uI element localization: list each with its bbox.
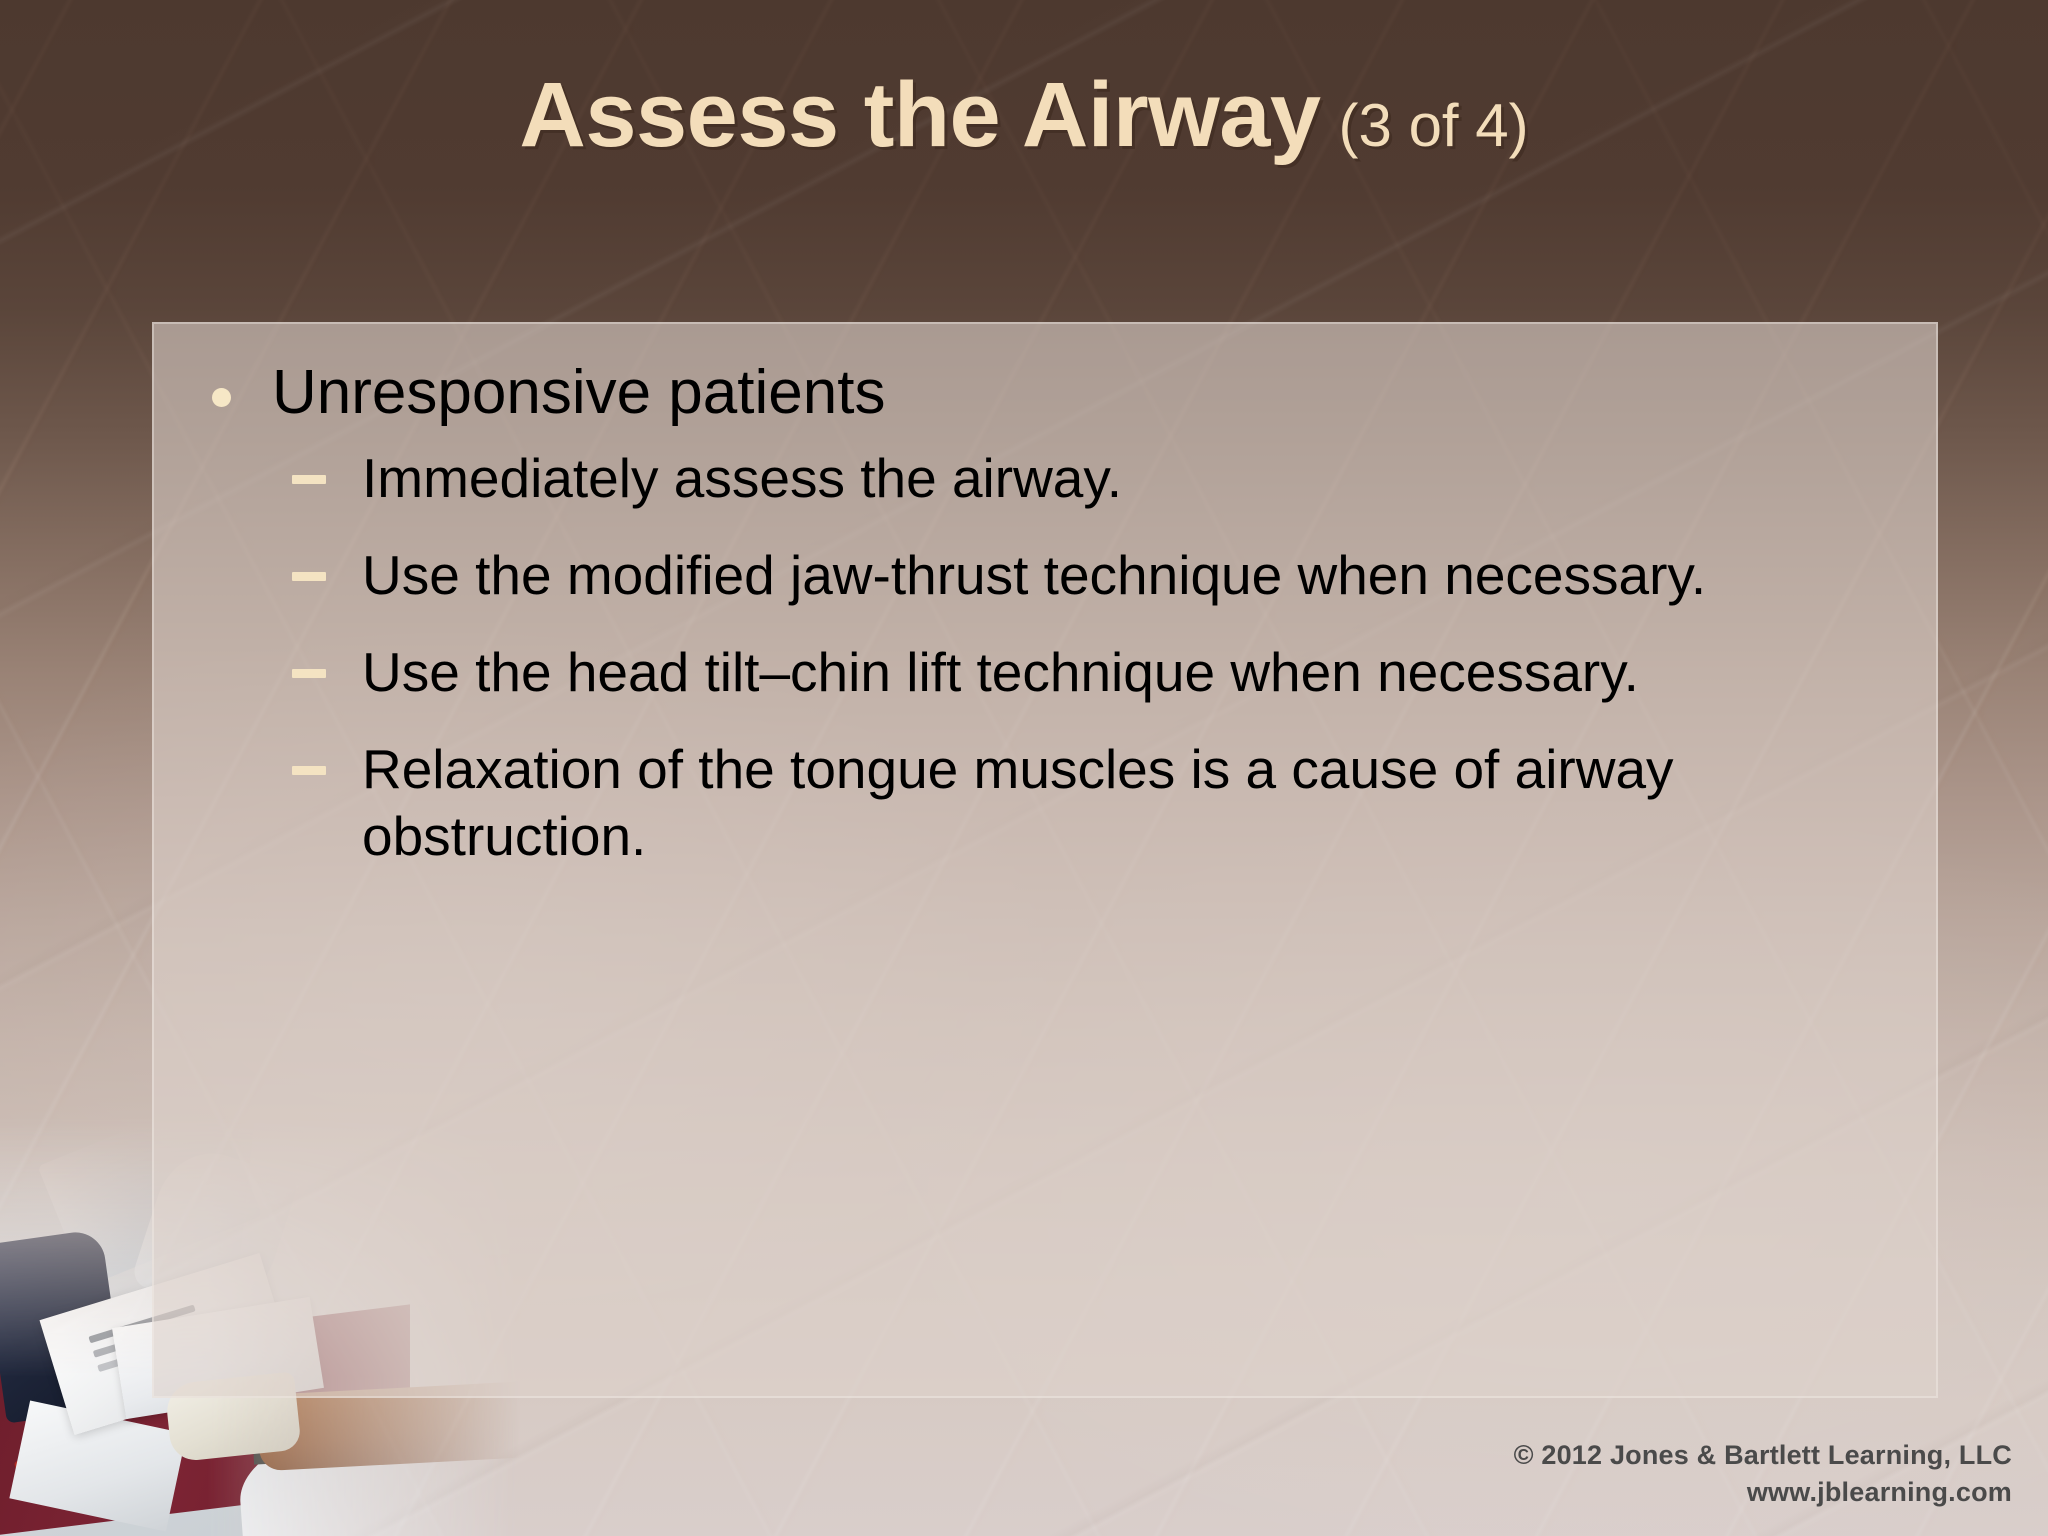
- copyright-footer: © 2012 Jones & Bartlett Learning, LLC ww…: [1514, 1437, 2012, 1510]
- copyright-line: © 2012 Jones & Bartlett Learning, LLC: [1514, 1437, 2012, 1473]
- bullet-level1-label: Unresponsive patients: [272, 358, 885, 427]
- title-sequence-label: (3 of 4): [1339, 92, 1529, 159]
- bullet-level2-label: Relaxation of the tongue muscles is a ca…: [362, 738, 1674, 867]
- bullet-level2-label: Immediately assess the airway.: [362, 447, 1122, 509]
- bullet-dash-icon: [292, 572, 326, 581]
- list-item: Use the modified jaw-thrust technique wh…: [272, 542, 1762, 609]
- title-main-text: Assess the Airway: [519, 64, 1320, 166]
- bullet-dash-icon: [292, 766, 326, 775]
- website-line: www.jblearning.com: [1514, 1474, 2012, 1510]
- bullet-dot-icon: [212, 388, 231, 407]
- page-title: Assess the Airway(3 of 4): [519, 69, 1528, 161]
- list-item: Use the head tilt–chin lift technique wh…: [272, 639, 1762, 706]
- presentation-slide: Assess the Airway(3 of 4) Unresponsive p…: [0, 0, 2048, 1536]
- list-item: Relaxation of the tongue muscles is a ca…: [272, 736, 1762, 870]
- slide-title-bar: Assess the Airway(3 of 4): [0, 0, 2048, 230]
- list-item: Unresponsive patients Immediately assess…: [194, 360, 1896, 870]
- content-panel: Unresponsive patients Immediately assess…: [152, 322, 1938, 1398]
- bullet-dash-icon: [292, 669, 326, 678]
- bullet-list-level2: Immediately assess the airway. Use the m…: [272, 445, 1896, 870]
- list-item: Immediately assess the airway.: [272, 445, 1762, 512]
- bullet-level2-label: Use the head tilt–chin lift technique wh…: [362, 641, 1639, 703]
- bullet-level2-label: Use the modified jaw-thrust technique wh…: [362, 544, 1706, 606]
- bullet-list-level1: Unresponsive patients Immediately assess…: [194, 360, 1896, 870]
- bullet-dash-icon: [292, 475, 326, 484]
